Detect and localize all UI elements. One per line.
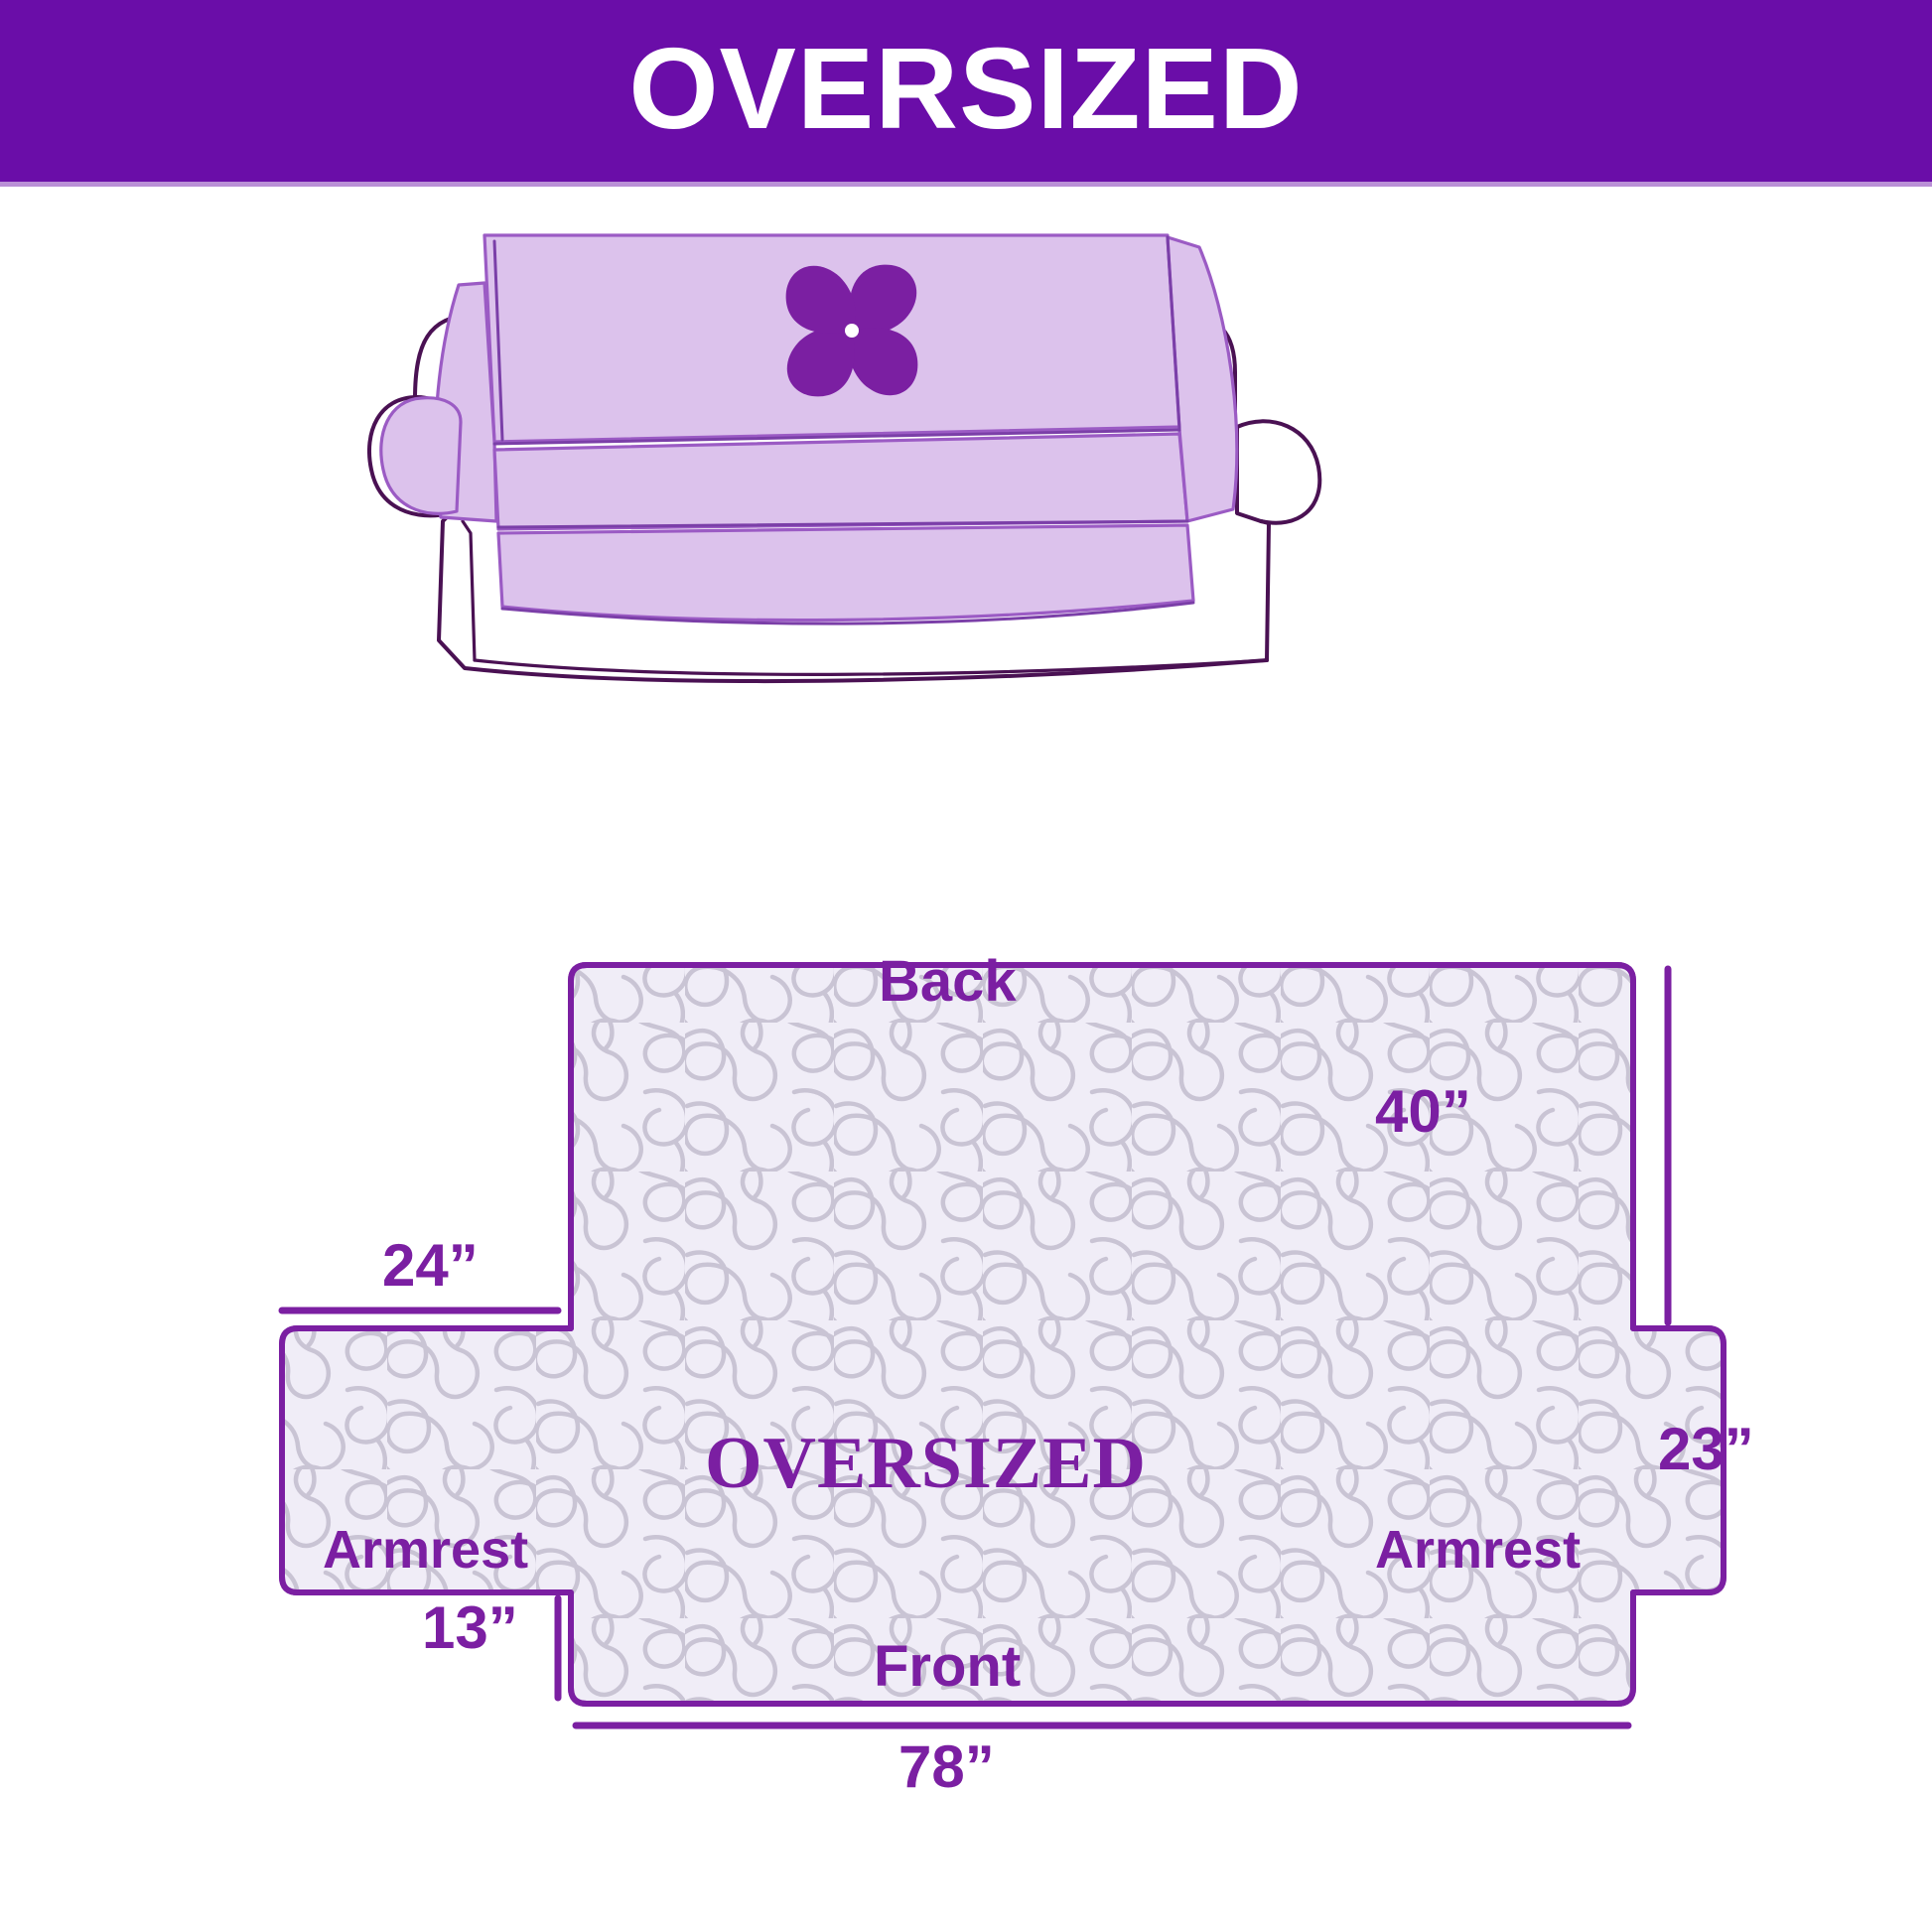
dimension-value-armrest-width: 23” [1658,1415,1754,1483]
header-banner: OVERSIZED [0,0,1932,182]
banner-underline-divider [0,182,1932,187]
label-oversized-center: OVERSIZED [705,1422,1147,1506]
sofa-cover-left-arm-flap [381,398,461,514]
label-armrest-right: Armrest [1375,1519,1581,1581]
dimension-value-armrest-depth: 24” [382,1231,479,1300]
product-size-diagram-page: OVERSIZED .ol { fill:none; stroke:#4A115… [0,0,1932,1932]
dimension-value-front-width: 78” [898,1732,995,1801]
sofa-illustration: .ol { fill:none; stroke:#4A1153; stroke-… [367,223,1588,700]
label-armrest-left: Armrest [323,1519,528,1581]
label-back: Back [879,948,1017,1015]
dimension-value-front-skirt-height: 13” [422,1593,518,1662]
dimension-value-back-height: 40” [1375,1077,1471,1146]
label-front: Front [874,1633,1021,1700]
page-title: OVERSIZED [628,31,1303,146]
